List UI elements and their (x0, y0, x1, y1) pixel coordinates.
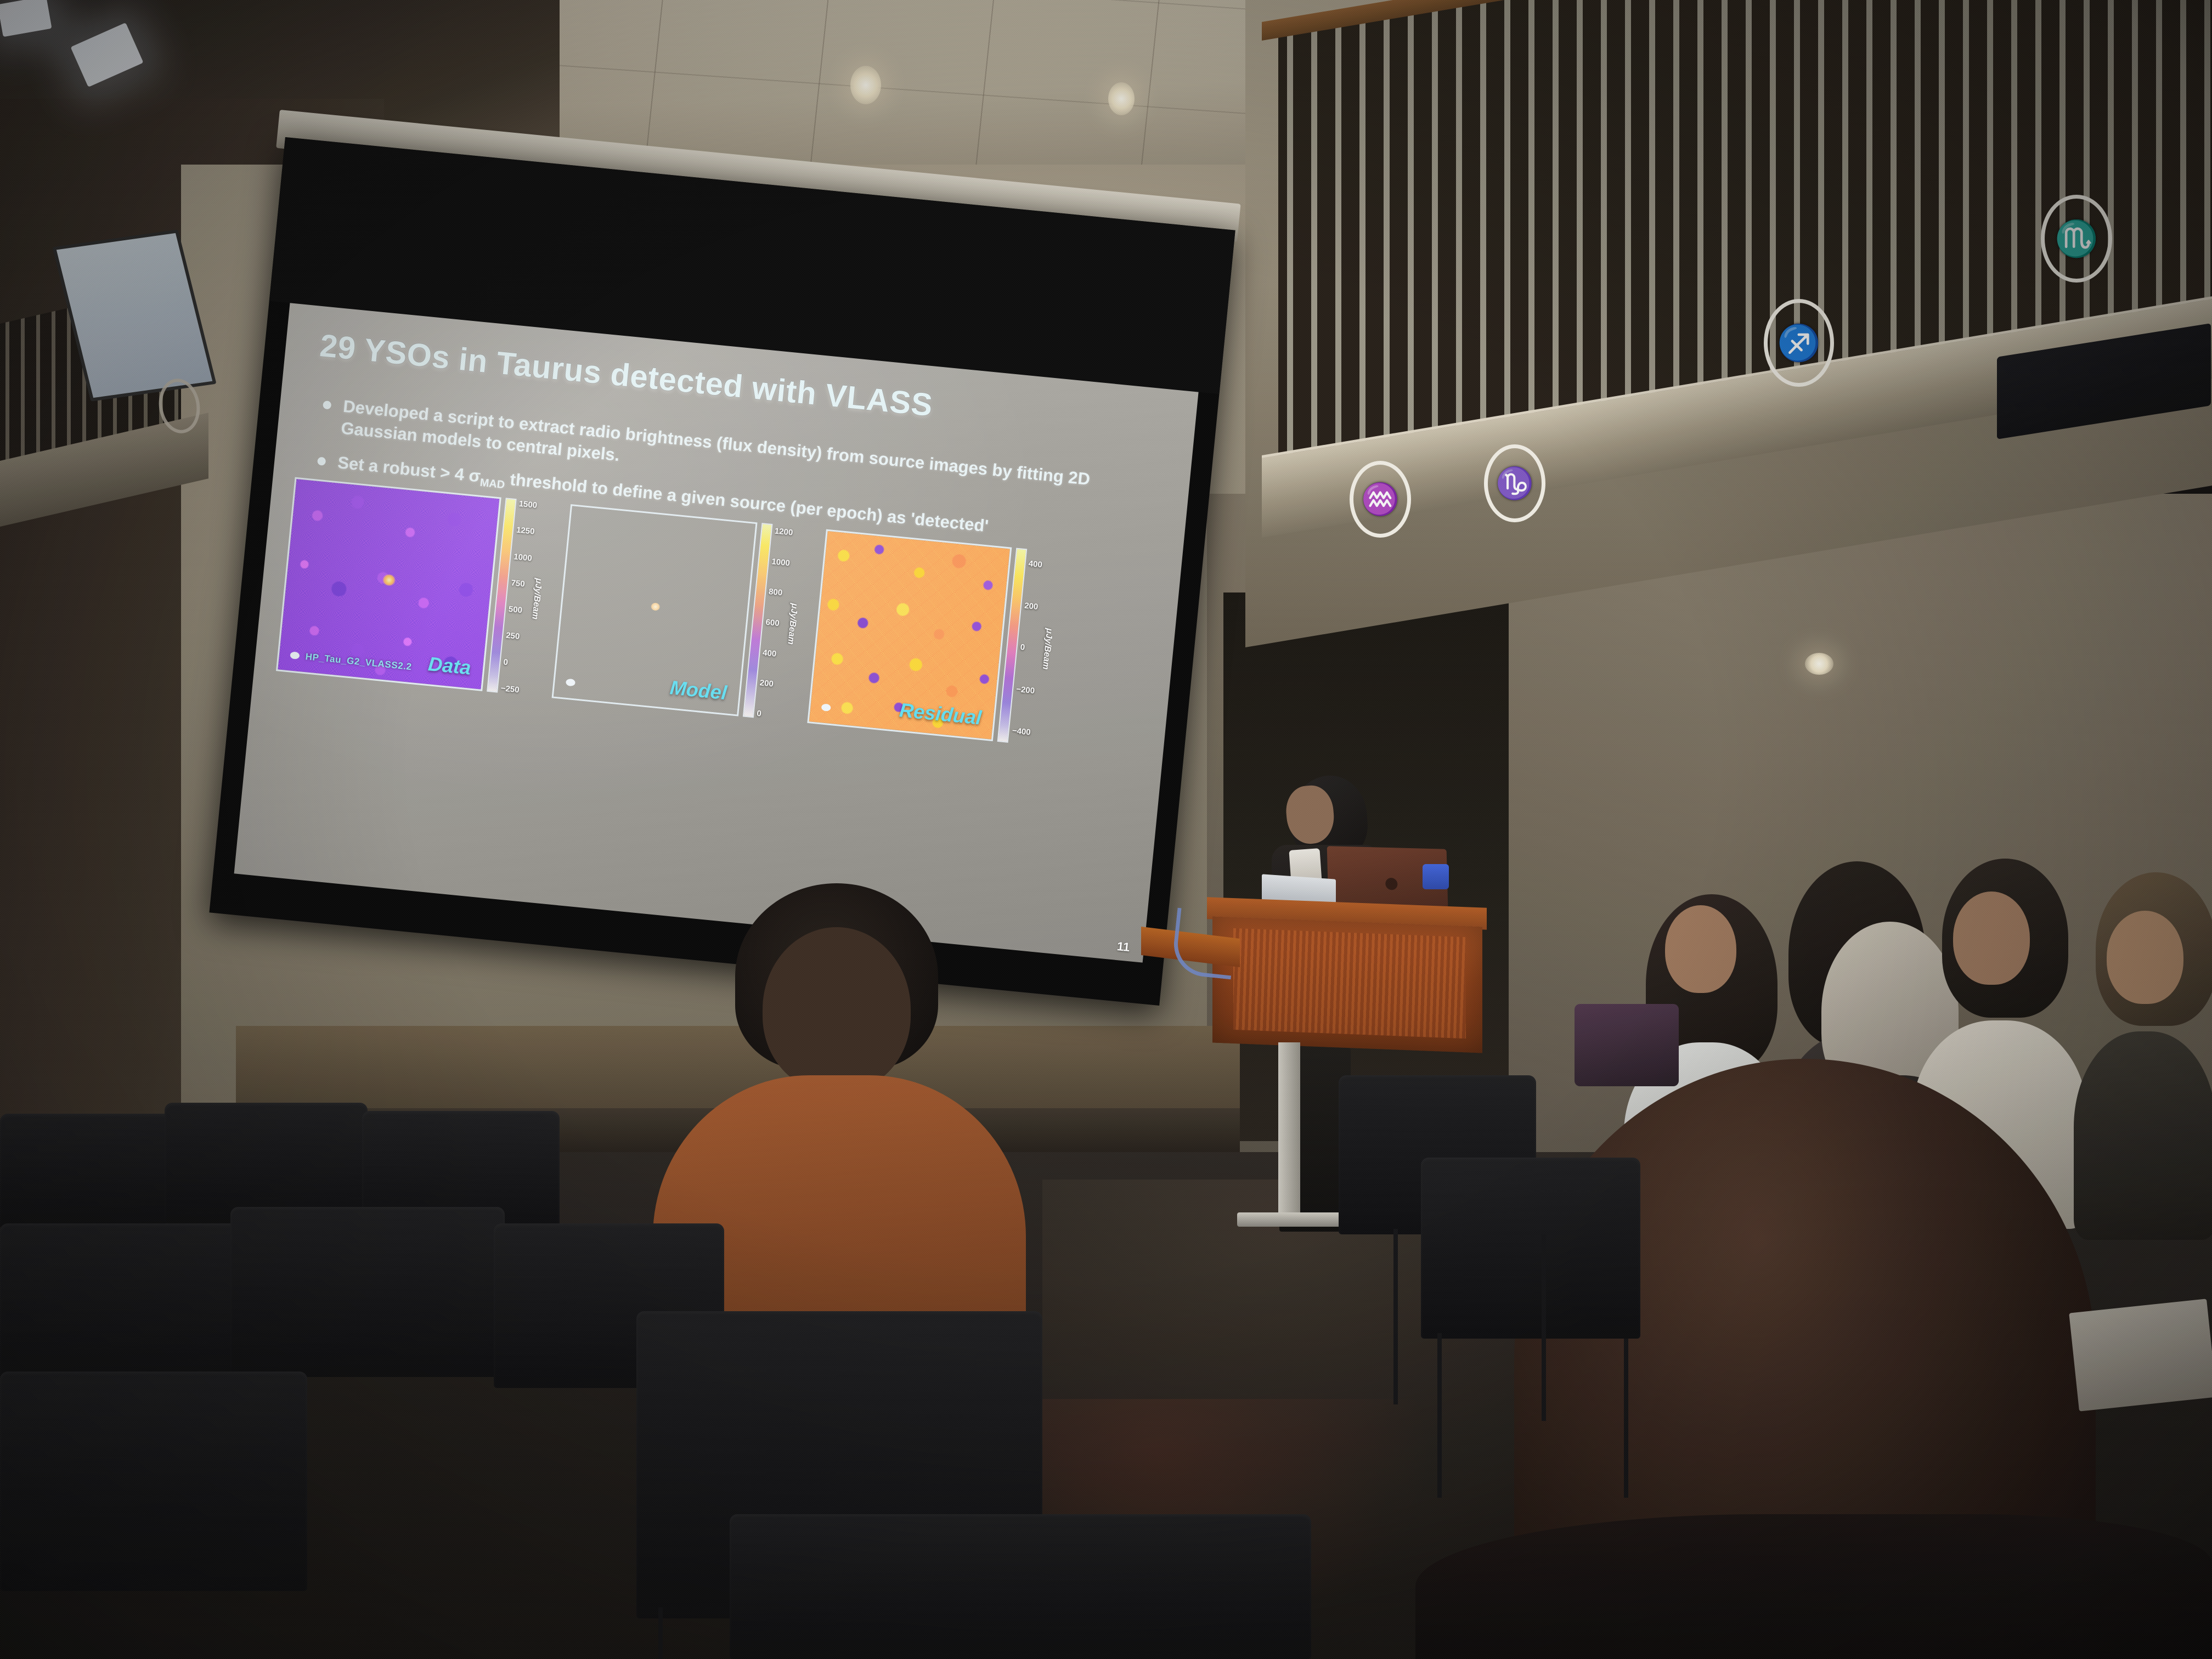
tick: 800 (768, 587, 787, 598)
tick: 400 (762, 648, 781, 659)
presentation-slide: 29 YSOs in Taurus detected with VLASS De… (234, 303, 1199, 962)
tick: 200 (1024, 601, 1043, 612)
tick: 200 (759, 678, 778, 689)
slide-number: 11 (1116, 939, 1131, 955)
chair (1421, 1158, 1640, 1339)
residual-colorbar-axis-label: μJy/Beam (1040, 628, 1054, 670)
data-panel: HP_Tau_G2_VLASS2.2 Data (276, 477, 501, 691)
chair (230, 1207, 505, 1377)
tick: 0 (757, 709, 776, 720)
handbag (1575, 1004, 1679, 1086)
projection-screen: 29 YSOs in Taurus detected with VLASS De… (209, 137, 1235, 1006)
bullet-dot-icon (323, 400, 331, 409)
model-panel-group: Model 1200 1000 800 600 400 200 0 (551, 504, 806, 721)
tick: 400 (1028, 559, 1047, 570)
tick: 1500 (518, 499, 538, 510)
tick: 750 (511, 578, 530, 589)
model-panel: Model (551, 504, 757, 716)
model-colorbar-axis-label: μJy/Beam (785, 602, 799, 645)
data-panel-title: Data (427, 652, 472, 679)
sagittarius-medallion: ♐ (1764, 299, 1834, 387)
tick: −400 (1012, 726, 1031, 737)
tick: −200 (1016, 684, 1035, 695)
chair (0, 1372, 307, 1591)
podium-stem (1278, 1042, 1300, 1223)
chair (165, 1103, 368, 1223)
tick: 1250 (516, 526, 535, 537)
data-colorbar-axis-label: μJy/Beam (529, 578, 543, 620)
bullet-2-subscript: MAD (479, 476, 505, 490)
podium-front-panel (1233, 928, 1466, 1039)
residual-panel-group: Residual 400 200 0 −200 −400 μJy/Beam (807, 529, 1061, 746)
tick: 1200 (774, 527, 793, 538)
tick: 1000 (513, 552, 533, 563)
tick: 1000 (771, 557, 791, 568)
aquarius-medallion: ♒ (1350, 461, 1411, 538)
lecture-hall-photo: EXIT ♒ ♑ ♐ ♏ 29 YSOs in Taurus detected … (0, 0, 2212, 1659)
residual-panel: Residual (807, 529, 1012, 741)
tick: 500 (508, 605, 527, 616)
capricorn-medallion: ♑ (1484, 444, 1545, 522)
chair (0, 1223, 258, 1388)
tick: 600 (765, 618, 785, 629)
tick: 0 (503, 657, 522, 668)
data-panel-group: HP_Tau_G2_VLASS2.2 Data 1500 1250 1000 7… (276, 477, 551, 696)
tick: 0 (1020, 642, 1039, 653)
ceiling-downlight (850, 66, 881, 104)
bullet-dot-icon (317, 456, 326, 465)
ceiling-downlight (1805, 653, 1833, 675)
tick: −250 (500, 684, 520, 695)
presenter-clicker (1423, 864, 1449, 889)
paper-handout (2069, 1299, 2212, 1411)
ceiling-downlight (1108, 82, 1135, 115)
bullet-2-pre: Set a robust > 4 σ (337, 453, 482, 486)
podium-base (1237, 1212, 1344, 1227)
chair (730, 1514, 1311, 1659)
tick: 250 (505, 631, 524, 642)
scorpio-medallion: ♏ (2041, 195, 2112, 283)
